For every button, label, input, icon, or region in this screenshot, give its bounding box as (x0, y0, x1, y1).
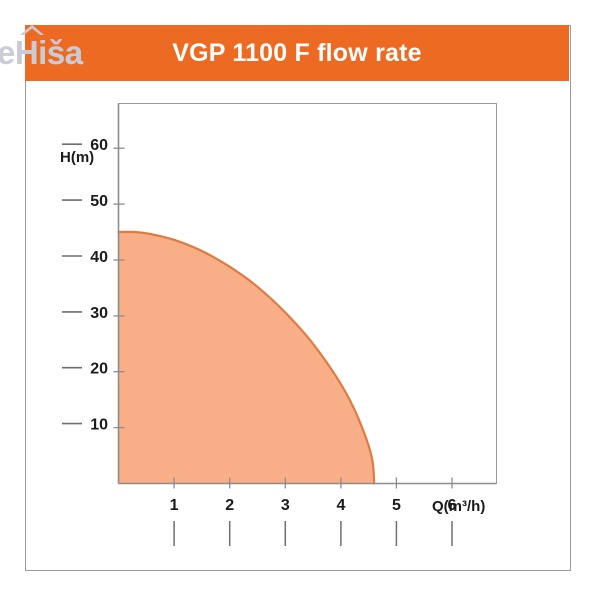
x-axis-title: Q(m³/h) (432, 498, 485, 515)
pump-curve-area (119, 232, 375, 484)
flow-rate-chart: 102030405060 123456 H(m) Q(m³/h) (0, 0, 600, 600)
y-axis-tick-labels: 102030405060 (90, 137, 108, 433)
y-axis-title: H(m) (60, 149, 94, 166)
y-tick-label: 50 (90, 193, 108, 210)
x-tick-label: 1 (170, 497, 179, 514)
x-tick-label: 4 (336, 497, 345, 514)
x-tick-label: 2 (225, 497, 234, 514)
y-tick-label: 40 (90, 249, 108, 266)
x-tick-label: 5 (392, 497, 401, 514)
y-tick-label: 10 (90, 417, 108, 434)
y-axis-ticks (62, 144, 125, 427)
page-title: VGP 1100 F flow rate (25, 25, 569, 81)
y-tick-label: 30 (90, 305, 108, 322)
title-bar: VGP 1100 F flow rate (25, 25, 569, 81)
x-axis-tick-labels: 123456 (170, 497, 457, 514)
y-tick-label: 20 (90, 361, 108, 378)
x-axis-tick-stems (174, 521, 452, 546)
x-tick-label: 3 (281, 497, 290, 514)
